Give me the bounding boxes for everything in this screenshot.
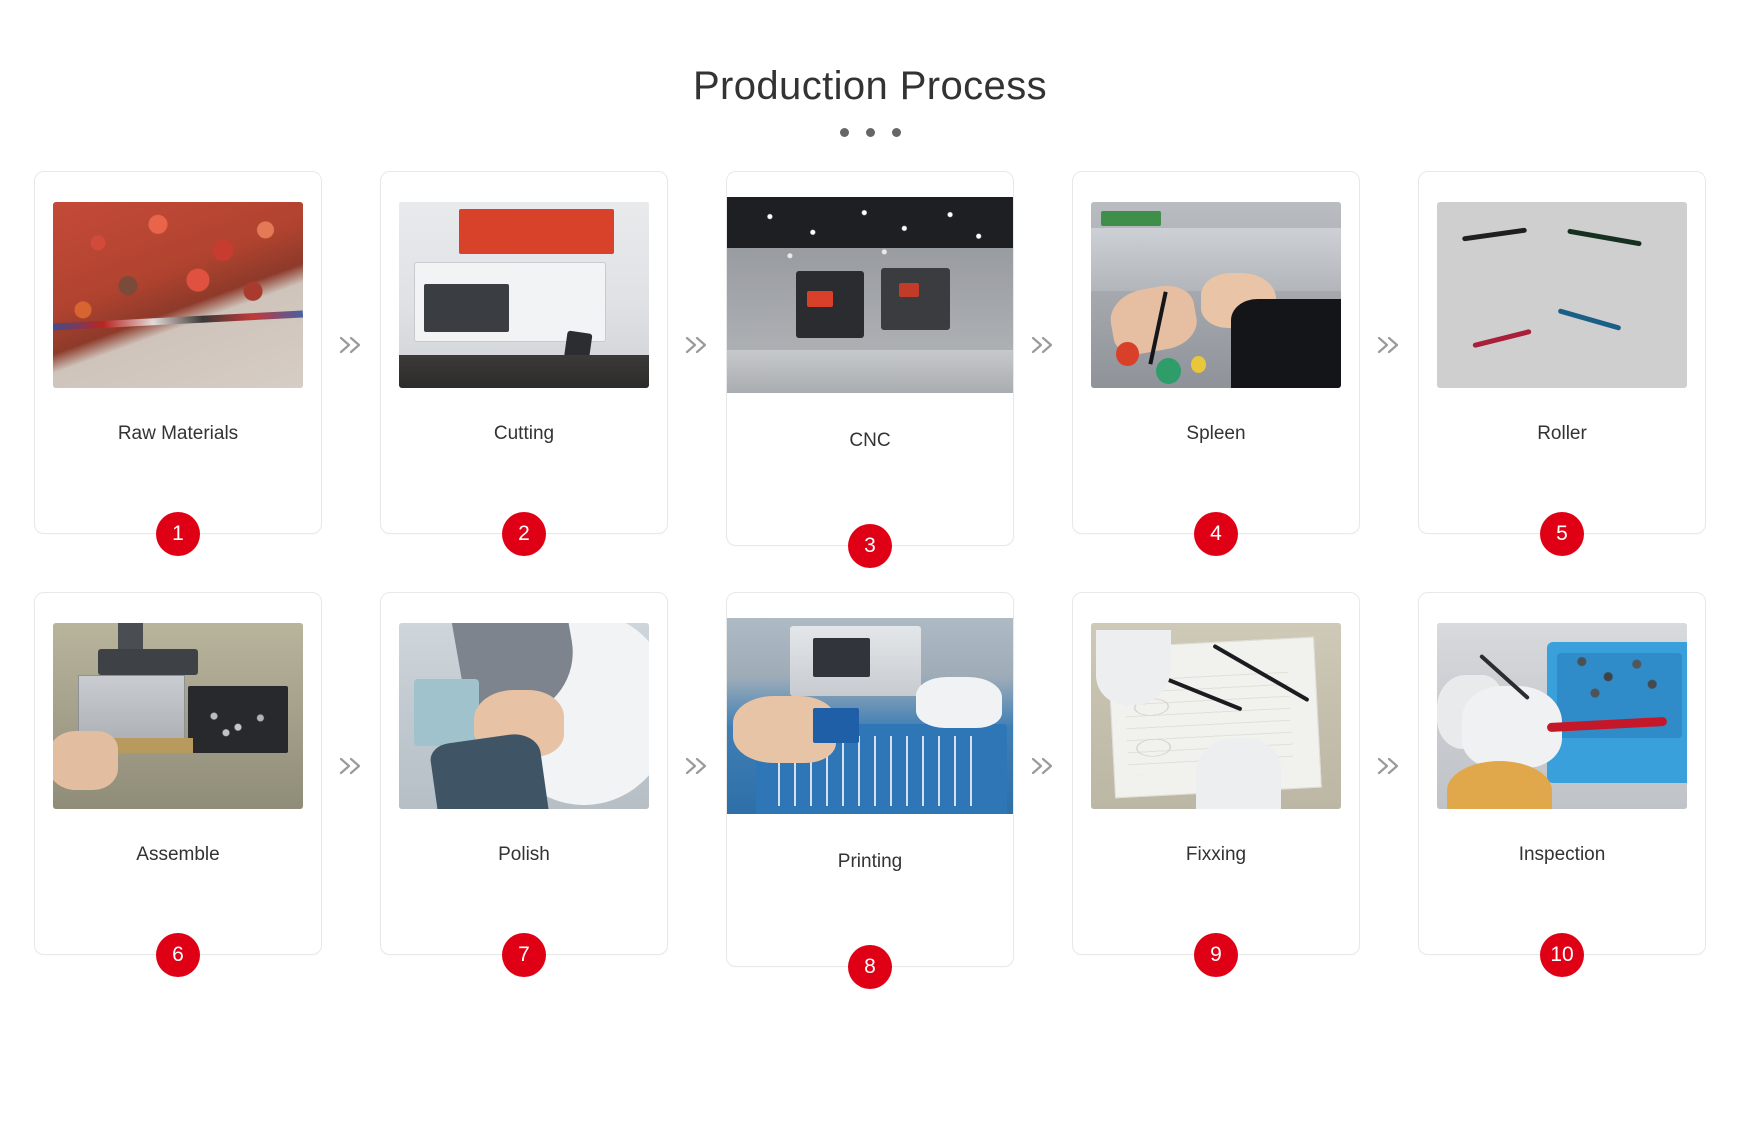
- process-step-photo: [53, 623, 303, 809]
- process-step-card[interactable]: Spleen: [1072, 171, 1360, 534]
- process-step-photo: [53, 202, 303, 388]
- process-step-photo: [1091, 202, 1341, 388]
- process-step-number-badge: 4: [1194, 512, 1238, 556]
- page-header: Production Process: [0, 0, 1740, 137]
- process-step-label: Assemble: [136, 843, 219, 868]
- process-step-card[interactable]: Fixxing: [1072, 592, 1360, 955]
- process-step: Cutting2: [380, 171, 668, 534]
- process-step-photo: [399, 623, 649, 809]
- title-dots-decoration: [0, 128, 1740, 137]
- dot-3: [892, 128, 901, 137]
- process-step: Spleen4: [1072, 171, 1360, 534]
- process-step-photo: [727, 618, 1013, 814]
- process-step-label: Printing: [838, 850, 902, 875]
- process-step-card[interactable]: Raw Materials: [34, 171, 322, 534]
- process-step: Raw Materials1: [34, 171, 322, 534]
- process-step-photo: [1437, 623, 1687, 809]
- process-step-number-badge: 10: [1540, 933, 1584, 977]
- process-step-photo: [727, 197, 1013, 393]
- process-step-card[interactable]: Roller: [1418, 171, 1706, 534]
- process-step: Printing8: [726, 592, 1014, 967]
- process-step-photo: [399, 202, 649, 388]
- process-step: Fixxing9: [1072, 592, 1360, 955]
- chevron-double-right-icon: [1360, 755, 1418, 777]
- process-step-number-badge: 1: [156, 512, 200, 556]
- dot-1: [840, 128, 849, 137]
- process-row: Assemble6Polish7Printing8Fixxing9Inspect…: [0, 592, 1740, 967]
- chevron-double-right-icon: [668, 334, 726, 356]
- process-step-label: Roller: [1537, 422, 1587, 447]
- process-step-label: Spleen: [1186, 422, 1245, 447]
- process-step-number-badge: 5: [1540, 512, 1584, 556]
- process-step-number-badge: 7: [502, 933, 546, 977]
- process-step-number-badge: 2: [502, 512, 546, 556]
- process-step: Inspection10: [1418, 592, 1706, 955]
- process-step: Assemble6: [34, 592, 322, 955]
- process-step-label: Raw Materials: [118, 422, 238, 447]
- process-step-card[interactable]: Printing: [726, 592, 1014, 967]
- process-step: Roller5: [1418, 171, 1706, 534]
- chevron-double-right-icon: [1014, 755, 1072, 777]
- process-step-photo: [1437, 202, 1687, 388]
- process-step-photo: [1091, 623, 1341, 809]
- process-step-label: Fixxing: [1186, 843, 1246, 868]
- process-step-card[interactable]: CNC: [726, 171, 1014, 546]
- page-title: Production Process: [0, 62, 1740, 110]
- process-step-card[interactable]: Polish: [380, 592, 668, 955]
- process-step-number-badge: 9: [1194, 933, 1238, 977]
- process-row: Raw Materials1Cutting2CNC3Spleen4Roller5: [0, 171, 1740, 546]
- process-step-label: CNC: [849, 429, 890, 454]
- process-step: CNC3: [726, 171, 1014, 546]
- process-step-label: Cutting: [494, 422, 554, 447]
- process-step-label: Inspection: [1519, 843, 1606, 868]
- process-step-number-badge: 6: [156, 933, 200, 977]
- dot-2: [866, 128, 875, 137]
- process-step-number-badge: 3: [848, 524, 892, 568]
- chevron-double-right-icon: [322, 334, 380, 356]
- chevron-double-right-icon: [668, 755, 726, 777]
- production-process-page: Production Process Raw Materials1Cutting…: [0, 0, 1740, 1134]
- process-step-card[interactable]: Inspection: [1418, 592, 1706, 955]
- chevron-double-right-icon: [322, 755, 380, 777]
- process-rows: Raw Materials1Cutting2CNC3Spleen4Roller5…: [0, 171, 1740, 967]
- process-step-card[interactable]: Cutting: [380, 171, 668, 534]
- chevron-double-right-icon: [1014, 334, 1072, 356]
- process-step-card[interactable]: Assemble: [34, 592, 322, 955]
- process-step-number-badge: 8: [848, 945, 892, 989]
- process-step: Polish7: [380, 592, 668, 955]
- process-step-label: Polish: [498, 843, 550, 868]
- chevron-double-right-icon: [1360, 334, 1418, 356]
